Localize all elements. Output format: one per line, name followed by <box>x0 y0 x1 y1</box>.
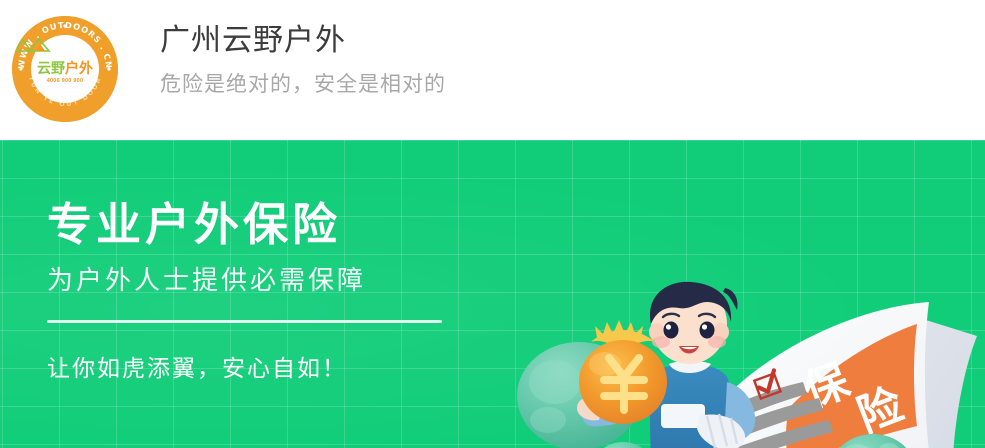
banner-subheadline: 为户外人士提供必需保障 <box>47 267 477 293</box>
shop-title: 广州云野户外 <box>160 22 446 60</box>
banner-illustration: 保 险 <box>493 280 985 448</box>
banner-copy: 专业户外保险 为户外人士提供必需保障 让你如虎添翼，安心自如！ <box>47 202 477 380</box>
logo-star-dot-right <box>107 67 110 70</box>
logo-star-dot-top <box>63 24 66 27</box>
logo-star-dot-left <box>19 67 22 70</box>
logo-brand-chinese: 云野户外 <box>37 61 93 75</box>
shop-logo[interactable]: WWW . OUTDOORS . CN YUN YE OUT DOOR 云野户外… <box>12 16 118 122</box>
banner-divider <box>47 320 442 323</box>
money-bag-crown <box>595 320 643 338</box>
character-head <box>649 282 738 364</box>
shop-header: WWW . OUTDOORS . CN YUN YE OUT DOOR 云野户外… <box>0 0 985 140</box>
shop-slogan: 危险是绝对的，安全是相对的 <box>160 72 446 98</box>
mountain-tent-icon <box>12 36 52 52</box>
banner-tagline: 让你如虎添翼，安心自如！ <box>47 357 477 380</box>
banner-headline: 专业户外保险 <box>47 202 477 247</box>
logo-brand-part-2: 户外 <box>65 60 93 76</box>
illustration-svg: 保 险 <box>493 280 985 448</box>
logo-phone-number: 4006 900 900 <box>47 78 84 84</box>
logo-inner-content: 云野户外 4006 900 900 <box>32 36 98 102</box>
promo-banner[interactable]: 专业户外保险 为户外人士提供必需保障 让你如虎添翼，安心自如！ <box>0 140 985 448</box>
shop-header-text: 广州云野户外 危险是绝对的，安全是相对的 <box>160 22 446 98</box>
logo-brand-part-1: 云野 <box>37 60 65 76</box>
page-root: WWW . OUTDOORS . CN YUN YE OUT DOOR 云野户外… <box>0 0 985 448</box>
